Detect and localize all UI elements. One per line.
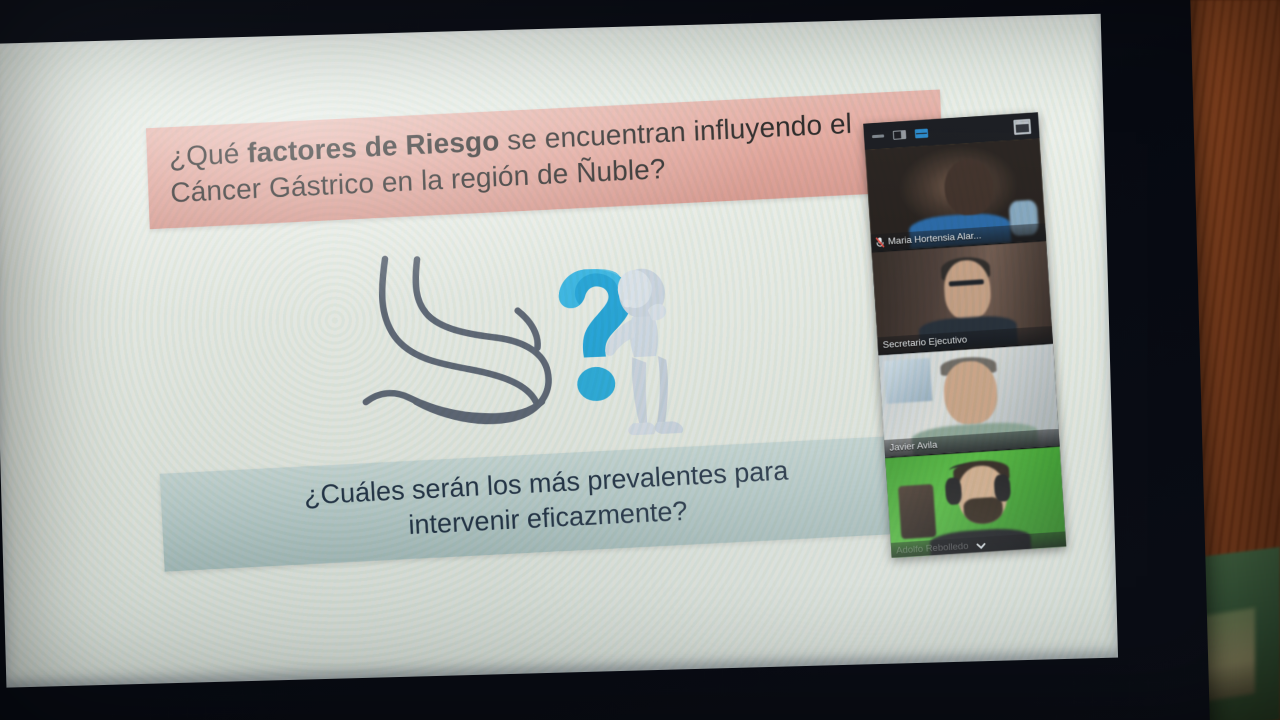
participant-tiles: Maria Hortensia Alar... Secretario Ejecu… [865,138,1066,558]
mic-muted-icon [876,237,885,248]
participant-tile[interactable]: Secretario Ejecutivo [872,241,1053,355]
video-call-panel[interactable]: Maria Hortensia Alar... Secretario Ejecu… [863,112,1066,558]
stomach-icon [359,251,550,426]
slide-title-box: ¿Qué factores de Riesgo se encuentran in… [146,89,944,229]
participant-tile[interactable]: Adolfo Rebolledo [885,447,1066,558]
restore-window-icon[interactable] [1013,118,1031,134]
participant-name: Secretario Ejecutivo [882,334,967,351]
question-mark-dot [576,366,616,402]
photo-scene: ¿Qué factores de Riesgo se encuentran in… [0,0,1280,720]
slide-subtitle-box: ¿Cuáles serán los más prevalentes para i… [160,434,935,572]
minimize-icon[interactable] [872,134,884,138]
laptop: ¿Qué factores de Riesgo se encuentran in… [0,0,1210,720]
laptop-screen: ¿Qué factores de Riesgo se encuentran in… [0,14,1118,688]
participant-name: Javier Avila [889,440,938,454]
participant-name: Maria Hortensia Alar... [888,230,982,247]
gallery-view-icon[interactable] [893,130,907,140]
slide-title-text: ¿Qué factores de Riesgo se encuentran in… [168,102,925,212]
participant-tile[interactable]: Javier Avila [878,344,1059,458]
participant-tile[interactable]: Maria Hortensia Alar... [865,138,1046,252]
title-prefix: ¿Qué [168,137,247,172]
chevron-down-icon[interactable] [976,540,987,551]
strip-view-icon[interactable] [915,128,929,138]
slide-illustration [343,236,698,462]
